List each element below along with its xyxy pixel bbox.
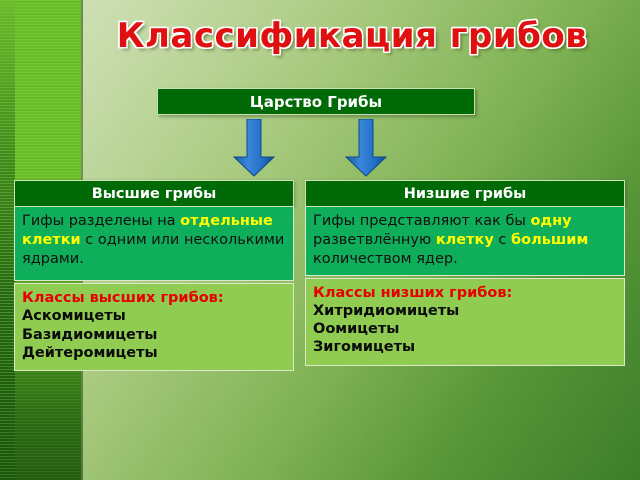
column-header-label: Высшие грибы <box>92 186 217 202</box>
desc-text-part2: разветвлённую <box>313 232 436 248</box>
kingdom-banner: Царство Грибы <box>157 88 475 115</box>
desc-highlight-3: большим <box>511 232 588 248</box>
class-list-item: Аскомицеты <box>22 307 286 325</box>
classes-title: Классы низших грибов: <box>313 284 617 302</box>
column-header-label: Низшие грибы <box>404 186 527 202</box>
classes-lower-fungi: Классы низших грибов: Хитридиомицеты Оом… <box>305 278 625 366</box>
down-arrow-icon-left <box>233 119 275 177</box>
classes-title: Классы высших грибов: <box>22 289 286 307</box>
class-list-item: Дейтеромицеты <box>22 344 286 362</box>
column-header-lower-fungi: Низшие грибы <box>305 180 625 207</box>
slide-canvas: Классификация грибов Царство Грибы <box>0 0 640 480</box>
class-list-item: Оомицеты <box>313 320 617 338</box>
left-stripe-decoration <box>0 0 15 480</box>
column-header-higher-fungi: Высшие грибы <box>14 180 294 207</box>
desc-text-part1: Гифы представляют как бы <box>313 213 530 229</box>
description-higher-fungi: Гифы разделены на отдельные клетки с одн… <box>14 207 294 281</box>
page-title: Классификация грибов <box>82 16 622 56</box>
class-list-item: Зигомицеты <box>313 338 617 356</box>
desc-text-part4: количеством ядер. <box>313 251 458 267</box>
column-lower-fungi: Низшие грибы Гифы представляют как бы од… <box>305 180 625 366</box>
desc-highlight-1: одну <box>530 213 571 229</box>
classes-higher-fungi: Классы высших грибов: Аскомицеты Базидио… <box>14 283 294 371</box>
desc-highlight-2: клетку <box>436 232 494 248</box>
desc-text-part1: Гифы разделены на <box>22 213 180 229</box>
kingdom-banner-label: Царство Грибы <box>250 93 382 111</box>
description-lower-fungi: Гифы представляют как бы одну разветвлён… <box>305 207 625 276</box>
desc-text-part3: с <box>494 232 511 248</box>
class-list-item: Хитридиомицеты <box>313 302 617 320</box>
down-arrow-icon-right <box>345 119 387 177</box>
column-higher-fungi: Высшие грибы Гифы разделены на отдельные… <box>14 180 294 371</box>
class-list-item: Базидиомицеты <box>22 326 286 344</box>
